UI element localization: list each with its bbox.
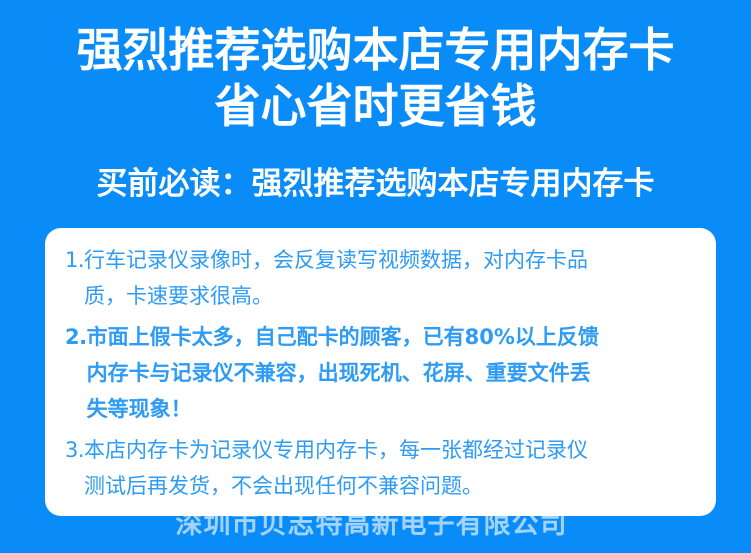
page-title-line-1: 强烈推荐选购本店专用内存卡	[0, 22, 751, 78]
list-item: 1. 行车记录仪录像时，会反复读写视频数据，对内存卡品 质，卡速要求很高。	[65, 242, 700, 314]
list-item-line: 本店内存卡为记录仪专用内存卡，每一张都经过记录仪	[84, 432, 700, 468]
page-title-line-2: 省心省时更省钱	[0, 78, 751, 134]
list-item-text: 行车记录仪录像时，会反复读写视频数据，对内存卡品 质，卡速要求很高。	[84, 242, 700, 314]
promo-banner: 强烈推荐选购本店专用内存卡 省心省时更省钱 买前必读：强烈推荐选购本店专用内存卡…	[0, 0, 751, 553]
list-item: 2. 市面上假卡太多，自己配卡的顾客，已有80%以上反馈 内存卡与记录仪不兼容，…	[65, 319, 700, 427]
list-item-line: 质，卡速要求很高。	[84, 278, 700, 314]
list-item-line: 测试后再发货，不会出现任何不兼容问题。	[84, 468, 700, 504]
list-item-line: 行车记录仪录像时，会反复读写视频数据，对内存卡品	[84, 242, 700, 278]
subtitle: 买前必读：强烈推荐选购本店专用内存卡	[0, 164, 751, 204]
list-item-text: 本店内存卡为记录仪专用内存卡，每一张都经过记录仪 测试后再发货，不会出现任何不兼…	[84, 432, 700, 504]
list-item: 3. 本店内存卡为记录仪专用内存卡，每一张都经过记录仪 测试后再发货，不会出现任…	[65, 432, 700, 504]
list-item-line: 内存卡与记录仪不兼容，出现死机、花屏、重要文件丢	[87, 355, 700, 391]
list-item-line: 市面上假卡太多，自己配卡的顾客，已有80%以上反馈	[87, 319, 700, 355]
page-title: 强烈推荐选购本店专用内存卡 省心省时更省钱	[0, 22, 751, 134]
list-item-number: 2.	[65, 319, 87, 355]
list-item-line: 失等现象！	[87, 391, 700, 427]
notice-card: 1. 行车记录仪录像时，会反复读写视频数据，对内存卡品 质，卡速要求很高。 2.…	[45, 228, 716, 516]
notice-list: 1. 行车记录仪录像时，会反复读写视频数据，对内存卡品 质，卡速要求很高。 2.…	[65, 242, 700, 504]
list-item-number: 1.	[65, 242, 84, 278]
list-item-number: 3.	[65, 432, 84, 468]
list-item-text: 市面上假卡太多，自己配卡的顾客，已有80%以上反馈 内存卡与记录仪不兼容，出现死…	[87, 319, 700, 427]
